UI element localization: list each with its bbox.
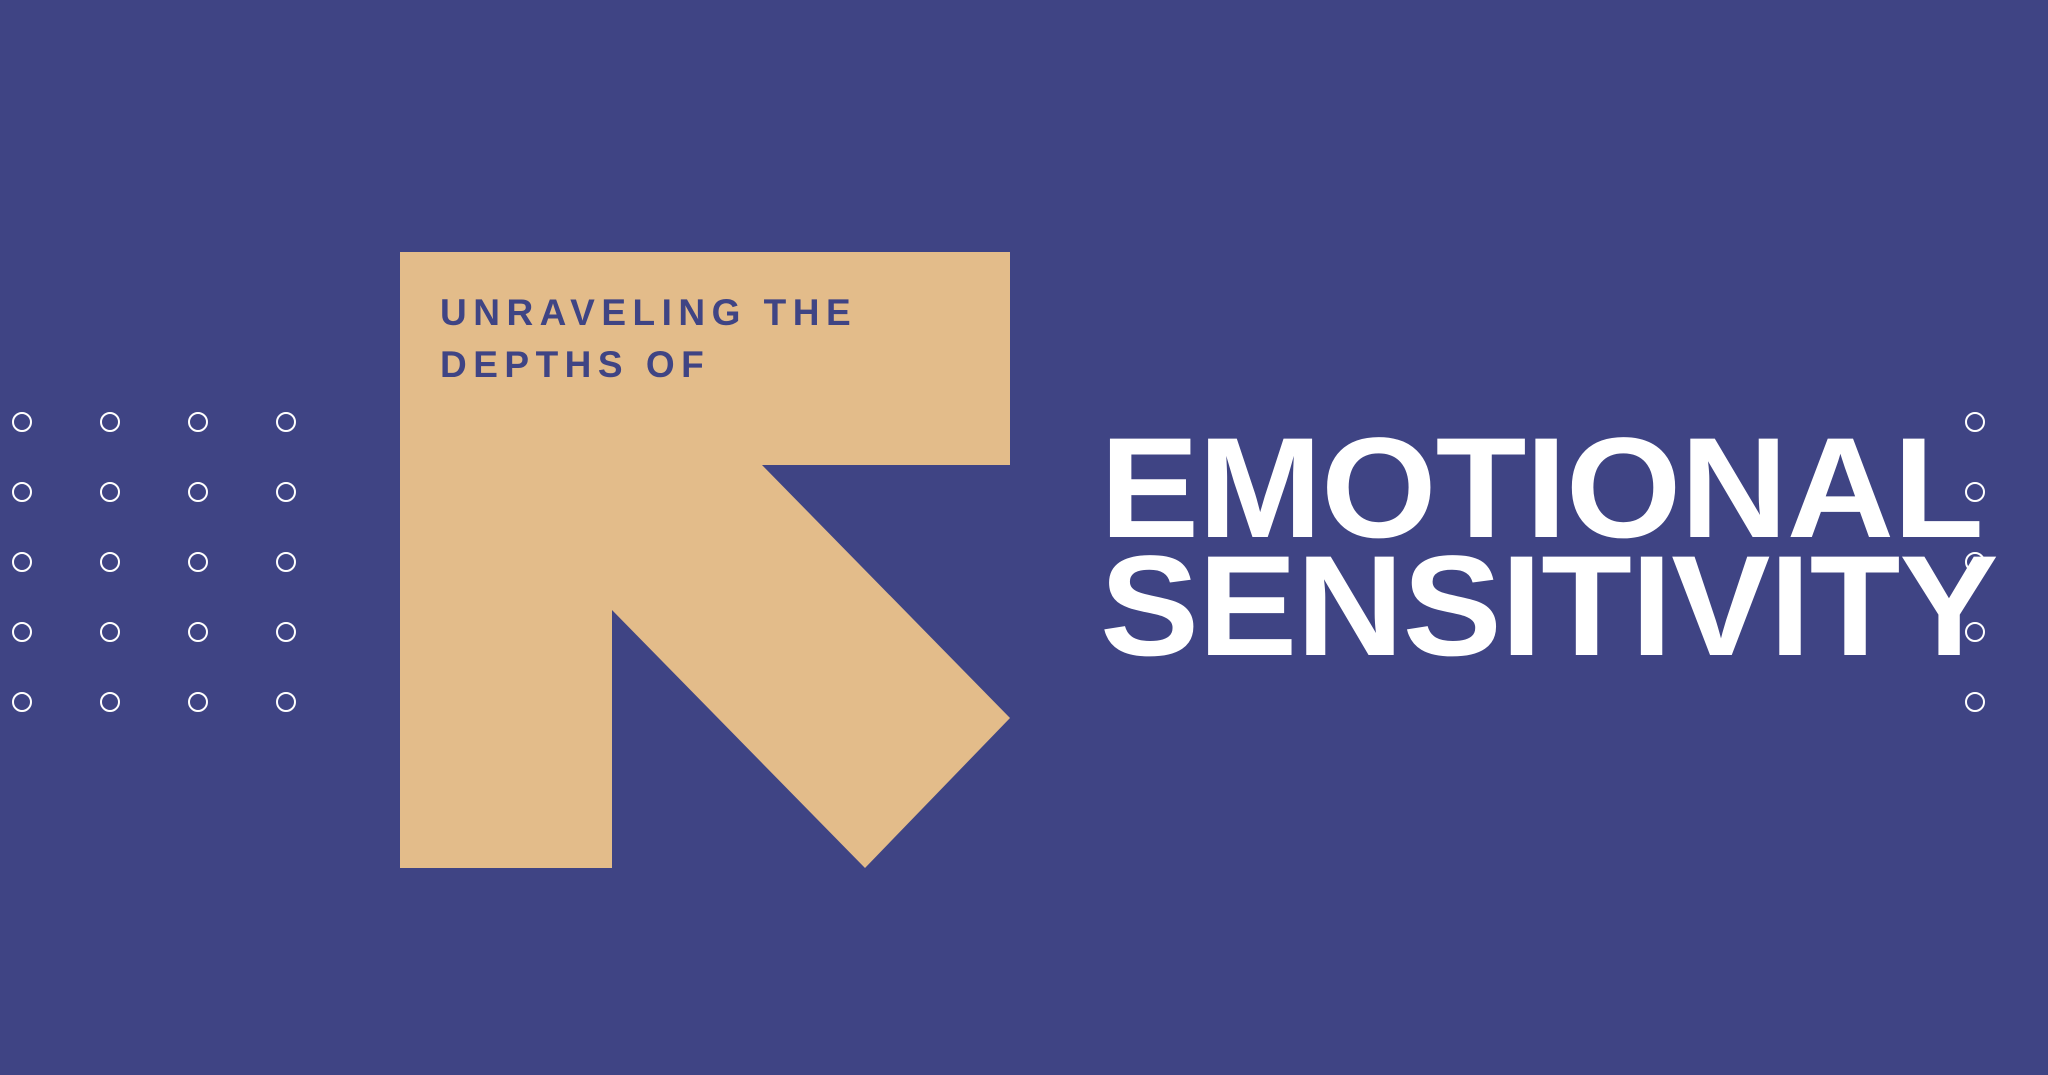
promo-banner: UNRAVELING THE DEPTHS OF EMOTIONAL SENSI… [0, 0, 2048, 1075]
headline-line-2: SENSITIVITY [1100, 548, 1998, 666]
page-title: EMOTIONAL SENSITIVITY [1100, 430, 1998, 666]
eyebrow-text: UNRAVELING THE DEPTHS OF [440, 287, 1000, 391]
